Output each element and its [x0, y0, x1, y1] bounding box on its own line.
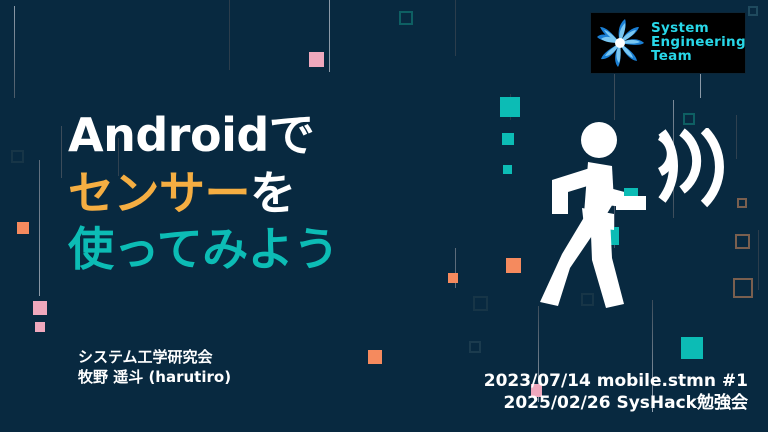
presenter-group: システム工学研究会	[78, 348, 231, 368]
event-dates: 2023/07/14 mobile.stmn #1 2025/02/26 Sys…	[484, 370, 748, 414]
title-accent-sensor: センサー	[68, 166, 250, 220]
event-date-2: 2025/02/26 SysHack勉強会	[484, 392, 748, 414]
slide-canvas: Androidで センサーを 使ってみよう システム工学研究会 牧野 遥斗 (h…	[0, 0, 768, 432]
deco-line	[510, 94, 511, 120]
deco-square-outline	[683, 113, 695, 125]
deco-line	[39, 160, 40, 296]
deco-line	[14, 6, 15, 98]
deco-square-outline	[473, 296, 488, 311]
deco-square-orange	[506, 258, 521, 273]
presenter-block: システム工学研究会 牧野 遥斗 (harutiro)	[78, 348, 231, 388]
logo-text-block: System Engineering Team	[651, 22, 746, 63]
deco-square-outline	[11, 150, 24, 163]
logo-line-3: Team	[651, 50, 746, 64]
deco-square-orange	[448, 273, 458, 283]
deco-square-outline	[735, 234, 750, 249]
deco-line	[736, 115, 737, 159]
page-title: Androidで センサーを 使ってみよう	[68, 112, 339, 272]
title-line-2: センサーを	[68, 170, 339, 216]
deco-line	[455, 248, 456, 288]
signal-waves-icon	[652, 128, 726, 208]
deco-line	[758, 230, 759, 290]
deco-square-orange	[368, 350, 382, 364]
title-line-1: Androidで	[68, 112, 339, 158]
deco-square-pink	[309, 52, 324, 67]
deco-square-outline	[399, 11, 413, 25]
title-particle-wo: を	[250, 166, 296, 220]
walking-person-icon	[528, 118, 656, 308]
deco-square-outline	[748, 6, 758, 16]
deco-square-teal	[681, 337, 703, 359]
deco-square-teal	[500, 97, 520, 117]
deco-square-pink	[35, 322, 45, 332]
deco-line	[61, 126, 62, 178]
deco-square-outline	[733, 278, 753, 298]
deco-line	[329, 0, 330, 72]
deco-square-teal	[502, 133, 514, 145]
fan-turbine-icon	[592, 15, 648, 71]
deco-square-pink	[33, 301, 47, 315]
deco-line	[229, 0, 230, 70]
deco-square-orange	[17, 222, 29, 234]
team-logo: System Engineering Team	[590, 12, 746, 74]
deco-square-outline	[737, 198, 747, 208]
deco-line	[455, 0, 456, 56]
event-date-1: 2023/07/14 mobile.stmn #1	[484, 370, 748, 392]
deco-square-outline	[469, 341, 481, 353]
deco-square-teal	[503, 165, 512, 174]
title-line-3: 使ってみよう	[68, 226, 339, 272]
presenter-name: 牧野 遥斗 (harutiro)	[78, 368, 231, 388]
